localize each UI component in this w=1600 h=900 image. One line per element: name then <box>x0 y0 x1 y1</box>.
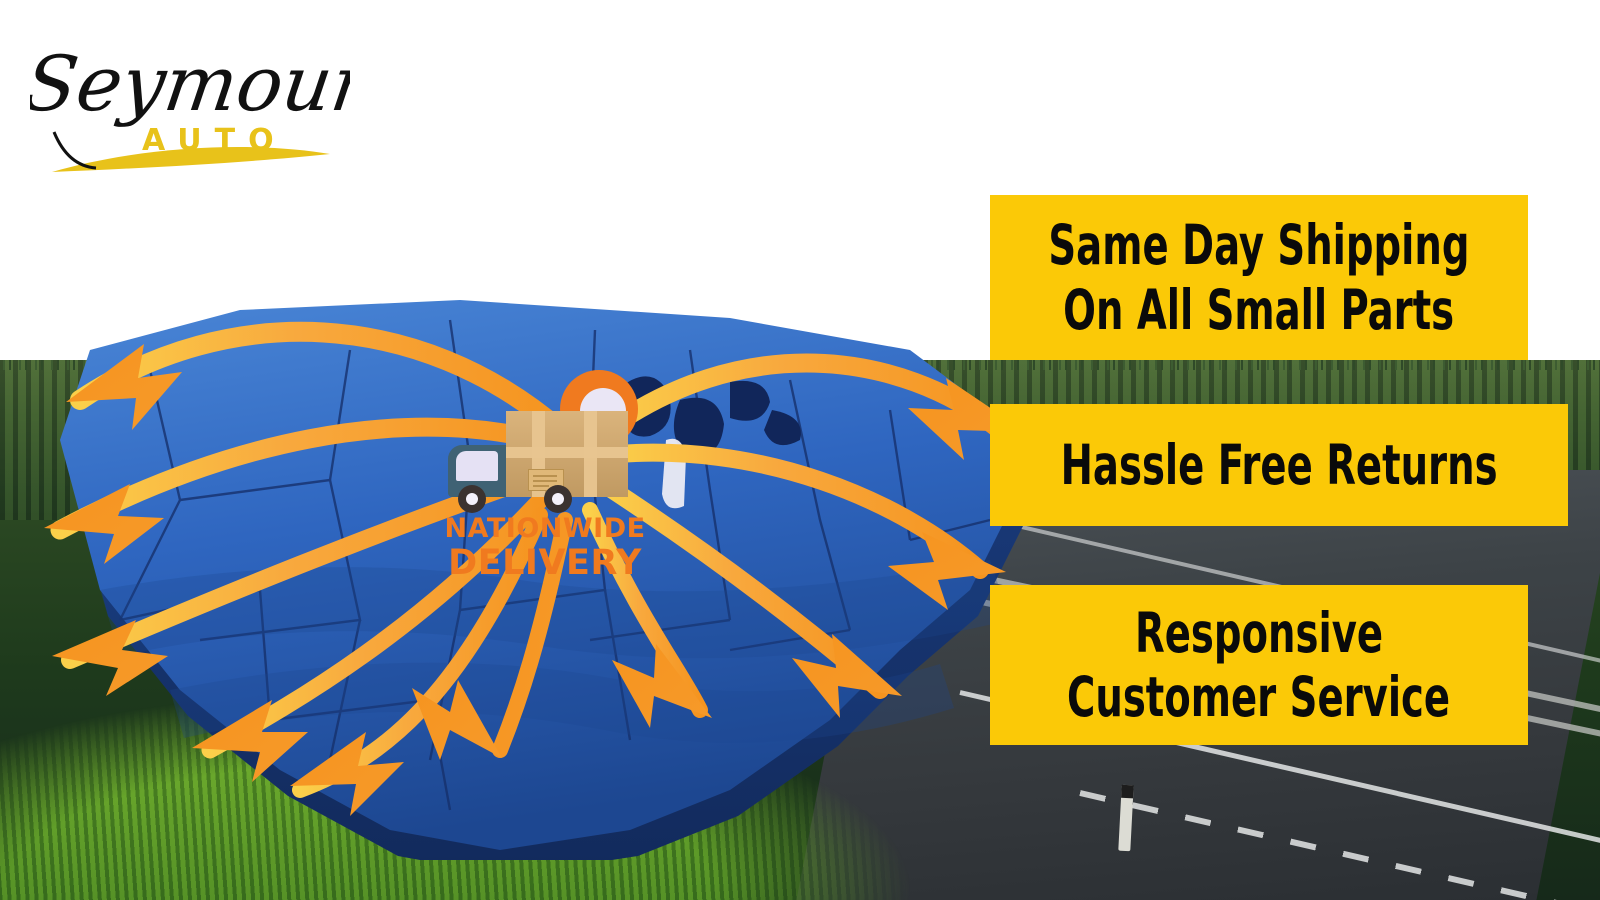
panel-3-line-2: Customer Service <box>1067 669 1450 725</box>
nationwide-delivery-graphic: NATIONWIDE DELIVERY <box>430 365 660 580</box>
panel-1-line-2: On All Small Parts <box>1063 282 1454 338</box>
seymour-auto-logo[interactable]: Seymour AUTO <box>30 22 350 172</box>
truck-wheel <box>544 485 572 513</box>
panel-3-line-1: Responsive <box>1135 605 1383 661</box>
delivery-truck-icon <box>448 403 628 513</box>
panel-1-line-1: Same Day Shipping <box>1048 217 1469 273</box>
box-tape <box>506 447 628 458</box>
caption-line-nationwide: NATIONWIDE <box>430 515 660 542</box>
feature-panel-hassle-free-returns[interactable]: Hassle Free Returns <box>990 404 1568 526</box>
truck-window <box>456 451 498 481</box>
panel-2-line-1: Hassle Free Returns <box>1061 437 1498 493</box>
caption-line-delivery: DELIVERY <box>430 546 660 581</box>
feature-panel-responsive-customer-service[interactable]: Responsive Customer Service <box>990 585 1528 745</box>
cardboard-box-cargo <box>506 411 628 497</box>
banner-stage: NATIONWIDE DELIVERY Seymour AUTO Same Da… <box>0 0 1600 900</box>
truck-wheel <box>458 485 486 513</box>
logo-script-text: Seymour <box>30 40 350 129</box>
feature-panel-same-day-shipping[interactable]: Same Day Shipping On All Small Parts <box>990 195 1528 360</box>
delivery-caption: NATIONWIDE DELIVERY <box>430 515 660 581</box>
